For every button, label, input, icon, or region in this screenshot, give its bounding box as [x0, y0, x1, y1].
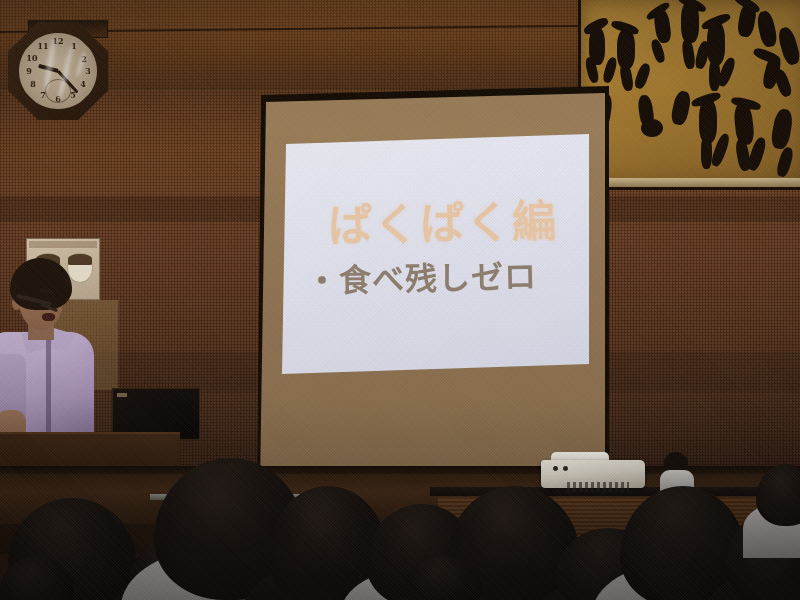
mural-figure	[641, 119, 663, 137]
stage-wood-panel	[438, 497, 798, 571]
clock-numeral: 11	[37, 42, 49, 51]
projected-slide: ぱくぱく編 ・食べ残しゼロ	[282, 134, 589, 374]
mural-figure	[755, 10, 778, 49]
clock-numeral: 8	[27, 80, 39, 89]
child-at-stage-right	[660, 452, 696, 496]
mural-figure	[775, 146, 795, 178]
projection-screen: ぱくぱく編 ・食べ残しゼロ	[257, 86, 609, 486]
mural-figure	[773, 68, 794, 98]
mural-figure	[670, 90, 693, 127]
presenter-mouth	[42, 313, 55, 321]
audience-shoulders	[121, 546, 340, 600]
audience-shoulders	[341, 568, 502, 600]
clock-numeral: 10	[26, 54, 38, 63]
mural-figure	[681, 38, 696, 69]
audience-shoulders	[242, 562, 415, 600]
stage-light-ledge	[150, 494, 340, 500]
mural-figure	[633, 62, 652, 90]
wall-clock: 12 1 2 3 4 5 6 7 8 9 10 11	[8, 22, 108, 120]
clock-numeral: 4	[77, 80, 89, 89]
slide-title: ぱくぱく編	[327, 186, 558, 255]
poster-header-strip	[29, 241, 97, 248]
photo-scene: 12 1 2 3 4 5 6 7 8 9 10 11	[0, 0, 800, 600]
audience-shoulders	[705, 571, 800, 600]
audience-shoulders	[387, 591, 499, 600]
projector-body	[541, 460, 645, 488]
mural-frame-bottom	[581, 178, 800, 187]
mural-figure	[602, 56, 619, 84]
presenter-shirt-placket	[46, 338, 51, 434]
slide-bullet-text: ・食べ残しゼロ	[306, 252, 538, 303]
clock-numeral: 9	[23, 67, 35, 76]
mural-figure	[619, 62, 635, 91]
audience-shoulders	[533, 580, 683, 600]
projector-indicator-2	[563, 466, 568, 471]
projector-indicator	[553, 466, 558, 471]
audience-shoulders	[0, 567, 164, 600]
mural-figure	[701, 135, 712, 169]
audience-shoulders	[0, 593, 90, 600]
audience-shoulders	[107, 588, 245, 600]
audience-head	[0, 556, 74, 600]
wall-mural-dancing-figures	[578, 0, 800, 190]
projector-unit	[541, 452, 645, 488]
side-child-shirt	[660, 470, 694, 496]
projector-label-markings	[567, 482, 629, 492]
mural-figure	[770, 108, 795, 151]
laptop-screen-glint	[117, 393, 127, 397]
clock-numeral: 3	[82, 67, 94, 76]
